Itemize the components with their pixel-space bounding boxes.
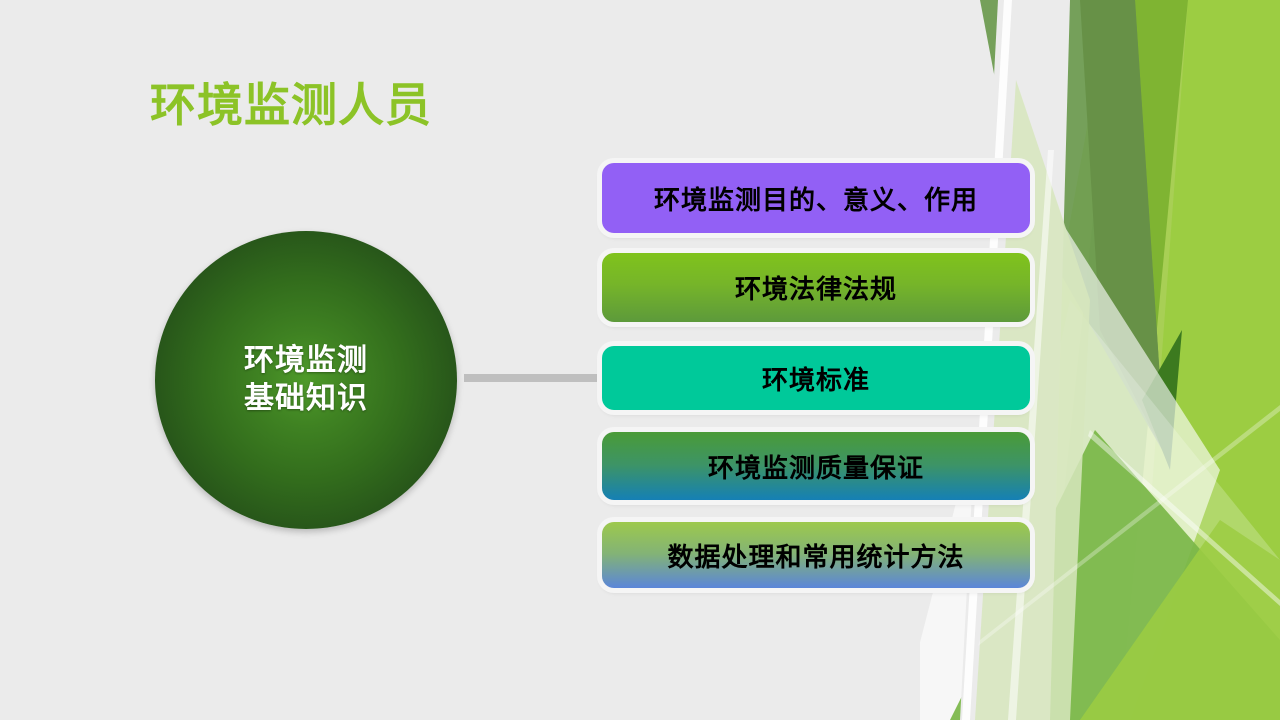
- node-item-4[interactable]: 环境监测质量保证: [602, 432, 1030, 500]
- node-item-1[interactable]: 环境监测目的、意义、作用: [602, 163, 1030, 233]
- node-item-5[interactable]: 数据处理和常用统计方法: [602, 522, 1030, 588]
- hub-circle-label: 环境监测 基础知识: [244, 342, 368, 419]
- node-list: 环境监测目的、意义、作用 环境法律法规 环境标准 环境监测质量保证 数据处理和常…: [602, 160, 1030, 592]
- hub-connector-line: [464, 374, 606, 382]
- node-item-2[interactable]: 环境法律法规: [602, 253, 1030, 322]
- node-item-3[interactable]: 环境标准: [602, 346, 1030, 410]
- hub-circle[interactable]: 环境监测 基础知识: [155, 231, 457, 529]
- presentation-slide: 环境监测人员 环境监测 基础知识 环境监测目的、意义、作用 环境法律法规 环境标…: [0, 0, 1280, 720]
- page-title: 环境监测人员: [150, 81, 432, 129]
- hub-label-line-1: 环境监测: [244, 342, 368, 380]
- hub-label-line-2: 基础知识: [244, 380, 368, 418]
